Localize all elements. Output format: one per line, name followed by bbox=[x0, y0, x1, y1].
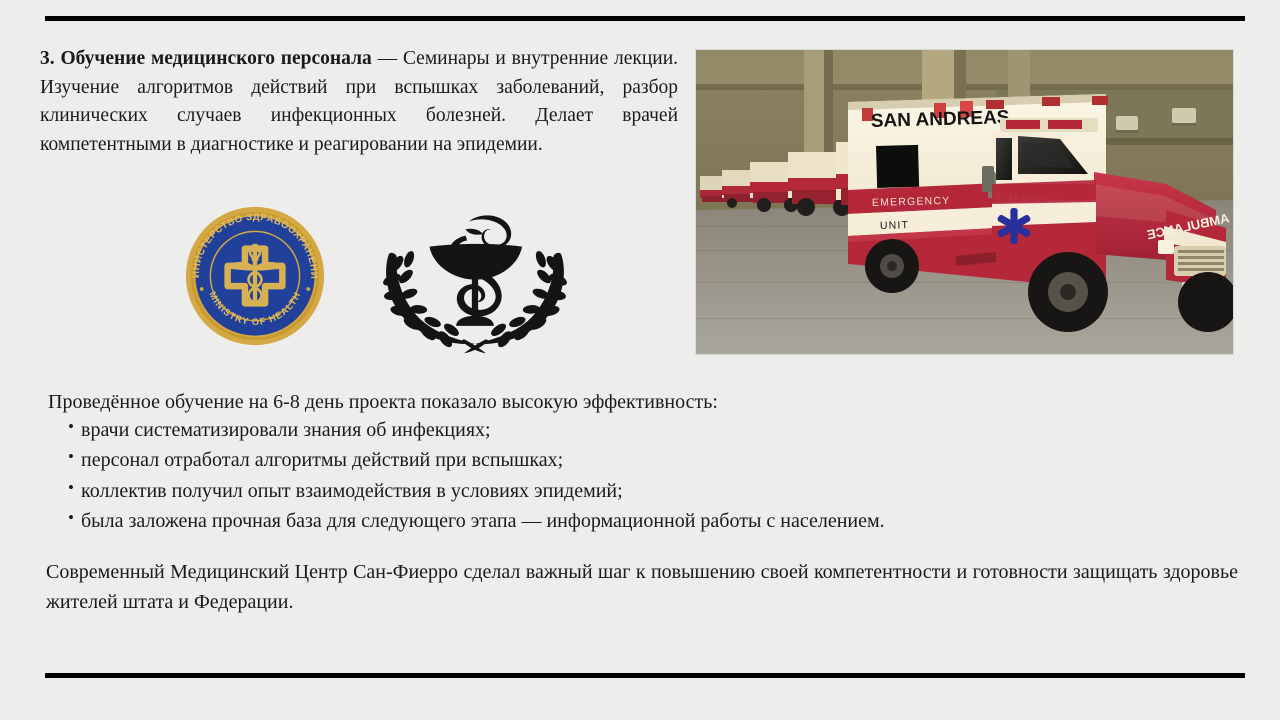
closing-text: Современный Медицинский Центр Сан-Фиерро… bbox=[46, 557, 1238, 617]
slide-canvas: 3. Обучение медицинского персонала — Сем… bbox=[0, 0, 1280, 720]
section-title: Обучение медицинского персонала bbox=[60, 48, 371, 69]
ambulance-fleet-photo: AMBULANCE SAN ANDREAS bbox=[695, 49, 1234, 355]
list-item: врачи систематизировали знания об инфекц… bbox=[68, 418, 1078, 442]
em-dash: — bbox=[378, 48, 398, 69]
bottom-divider-rule bbox=[45, 673, 1245, 678]
section-number: 3. bbox=[40, 48, 55, 69]
results-block: Проведённое обучение на 6-8 день проекта… bbox=[48, 392, 1078, 540]
ministry-of-health-emblem: МИНИСТЕРСТВО ЗДРАВООХРАНЕНИЯ MINISTRY OF… bbox=[183, 204, 327, 348]
closing-paragraph: Современный Медицинский Центр Сан-Фиерро… bbox=[46, 557, 1238, 617]
list-item: была заложена прочная база для следующег… bbox=[68, 509, 1078, 533]
ambulance-text-emergency: EMERGENCY bbox=[872, 195, 951, 209]
top-divider-rule bbox=[45, 16, 1245, 21]
bowl-of-hygieia-emblem bbox=[373, 198, 577, 358]
list-item: коллектив получил опыт взаимодействия в … bbox=[68, 479, 1078, 503]
results-lead: Проведённое обучение на 6-8 день проекта… bbox=[48, 392, 1078, 412]
ambulance-text-san-andreas: SAN ANDREAS bbox=[871, 107, 1010, 132]
results-list: врачи систематизировали знания об инфекц… bbox=[48, 418, 1078, 534]
section-heading-paragraph: 3. Обучение медицинского персонала — Сем… bbox=[40, 45, 678, 160]
emblem-row: МИНИСТЕРСТВО ЗДРАВООХРАНЕНИЯ MINISTRY OF… bbox=[40, 196, 680, 366]
list-item: персонал отработал алгоритмы действий пр… bbox=[68, 448, 1078, 472]
